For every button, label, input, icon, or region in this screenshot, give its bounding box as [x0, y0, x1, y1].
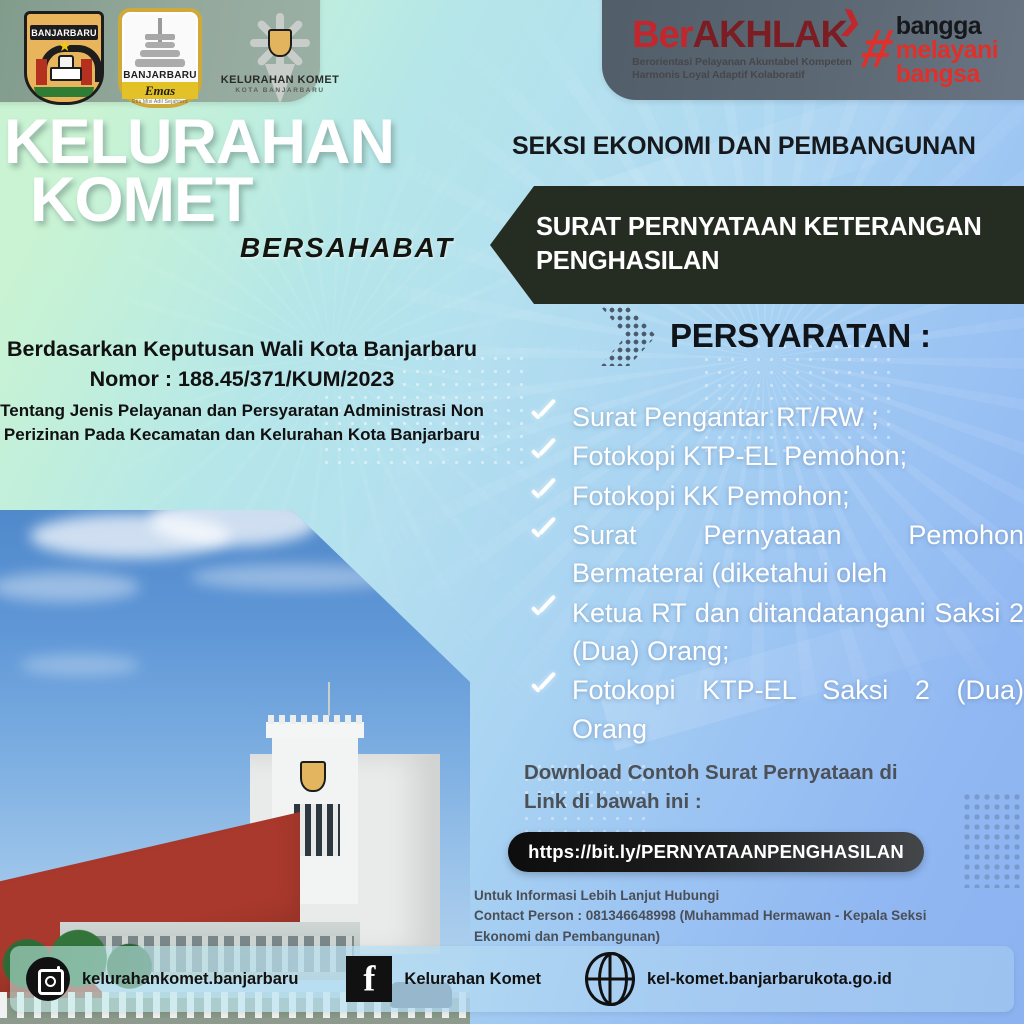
facebook-icon[interactable] — [346, 956, 392, 1002]
download-line-1: Download Contoh Surat Pernyataan di — [524, 758, 994, 787]
instagram-icon[interactable] — [26, 957, 70, 1001]
regulation-line-3: Tentang Jenis Pelayanan dan Persyaratan … — [0, 399, 484, 447]
bangga-line: bangga — [896, 14, 998, 38]
check-icon — [528, 598, 558, 632]
section-eyebrow: SEKSI EKONOMI DAN PEMBANGUNAN — [512, 132, 976, 161]
footer-bar: kelurahankomet.banjarbaru Kelurahan Kome… — [10, 946, 1014, 1012]
check-icon — [528, 481, 558, 515]
komet-logo-line2: KOTA BANJARBARU — [216, 87, 344, 94]
regulation-line-2: Nomor : 188.45/371/KUM/2023 — [0, 364, 484, 395]
download-line-2: Link di bawah ini : — [524, 787, 994, 816]
komet-logo-line1: KELURAHAN KOMET — [216, 74, 344, 86]
emas-line1: BANJARBARU — [122, 70, 198, 81]
hashtag-icon: # — [857, 28, 896, 71]
download-url-button[interactable]: https://bit.ly/PERNYATAANPENGHASILAN — [508, 832, 924, 872]
list-item-label: Surat Pengantar RT/RW ; — [572, 398, 1024, 436]
list-item-label: Fotokopi KTP-EL Saksi 2 (Dua) Orang — [572, 671, 1024, 748]
list-item-label: Fotokopi KTP-EL Pemohon; — [572, 437, 1024, 475]
emas-line3: Etis Misi Adil Sejahtera — [118, 99, 202, 105]
download-url-label: https://bit.ly/PERNYATAANPENGHASILAN — [528, 841, 904, 863]
chevron-dots-icon — [600, 306, 656, 366]
section-banner-title: SURAT PERNYATAAN KETERANGAN PENGHASILAN — [536, 211, 1024, 278]
list-item-label: Surat Pernyataan Pemohon Bermaterai (dik… — [572, 516, 1024, 593]
footer-website[interactable]: kel-komet.banjarbarukota.go.id — [585, 952, 892, 1006]
download-block: Download Contoh Surat Pernyataan di Link… — [524, 758, 994, 816]
check-icon — [528, 520, 558, 554]
berakhlak-lockup: BerAKHLAK ❯ Berorientasi Pelayanan Akunt… — [632, 12, 998, 86]
kelurahan-komet-logo-icon: KELURAHAN KOMET KOTA BANJARBARU — [216, 8, 344, 108]
contact-block: Untuk Informasi Lebih Lanjut Hubungi Con… — [474, 886, 974, 947]
list-item: Fotokopi KK Pemohon; — [528, 477, 1024, 515]
bangsa-line: bangsa — [896, 62, 998, 86]
globe-icon[interactable] — [585, 952, 635, 1006]
berakhlak-prefix: Ber — [632, 14, 692, 56]
check-icon — [528, 675, 558, 709]
section-banner: SURAT PERNYATAAN KETERANGAN PENGHASILAN — [490, 186, 1024, 304]
footer-instagram[interactable]: kelurahankomet.banjarbaru — [26, 957, 298, 1001]
regulation-line-1: Berdasarkan Keputusan Wali Kota Banjarba… — [0, 336, 484, 364]
berakhlak-sub-line2: Harmonis Loyal Adaptif Kolaboratif — [632, 69, 852, 82]
title-line-2: KOMET — [30, 172, 504, 230]
crest-ribbon-label: BANJARBARU — [31, 28, 97, 38]
check-icon — [528, 441, 558, 475]
title-line-1: KELURAHAN — [4, 114, 504, 172]
facebook-handle: Kelurahan Komet — [404, 970, 541, 989]
instagram-handle: kelurahankomet.banjarbaru — [82, 970, 298, 989]
list-item: Surat Pengantar RT/RW ; — [528, 398, 1024, 436]
contact-line-3: Ekonomi dan Pembangunan) — [474, 927, 974, 947]
contact-line-2: Contact Person : 081346648998 (Muhammad … — [474, 906, 974, 926]
regulation-block: Berdasarkan Keputusan Wali Kota Banjarba… — [0, 336, 484, 447]
contact-line-1: Untuk Informasi Lebih Lanjut Hubungi — [474, 886, 974, 906]
emas-line2: Emas — [145, 83, 175, 99]
poster-canvas: BANJARBARU ★ BANJARBARU Emas Etis Misi A… — [0, 0, 1024, 1024]
page-title: KELURAHAN KOMET BERSAHABAT — [4, 114, 504, 264]
list-item: Fotokopi KTP-EL Pemohon; — [528, 437, 1024, 475]
berakhlak-sub-line1: Berorientasi Pelayanan Akuntabel Kompete… — [632, 56, 852, 69]
list-item-label: Fotokopi KK Pemohon; — [572, 477, 1024, 515]
logo-row: BANJARBARU ★ BANJARBARU Emas Etis Misi A… — [24, 8, 344, 108]
list-item: Ketua RT dan ditandatangani Saksi 2 (Dua… — [528, 594, 1024, 671]
melayani-line: melayani — [896, 38, 998, 62]
banjarbaru-crest-icon: BANJARBARU ★ — [24, 11, 104, 105]
requirements-list: Surat Pengantar RT/RW ; Fotokopi KTP-EL … — [528, 398, 1024, 749]
berakhlak-arrow-icon: ❯ — [838, 7, 862, 36]
requirements-heading: PERSYARATAN : — [670, 317, 931, 355]
title-tagline: BERSAHABAT — [240, 232, 504, 264]
website-url: kel-komet.banjarbarukota.go.id — [647, 970, 892, 989]
requirements-heading-row: PERSYARATAN : — [600, 306, 931, 366]
list-item: Surat Pernyataan Pemohon Bermaterai (dik… — [528, 516, 1024, 593]
list-item: Fotokopi KTP-EL Saksi 2 (Dua) Orang — [528, 671, 1024, 748]
check-icon — [528, 402, 558, 436]
berakhlak-main: AKHLAK — [693, 14, 847, 56]
banjarbaru-emas-logo-icon: BANJARBARU Emas Etis Misi Adil Sejahtera — [118, 8, 202, 108]
list-item-label: Ketua RT dan ditandatangani Saksi 2 (Dua… — [572, 594, 1024, 671]
footer-facebook[interactable]: Kelurahan Komet — [346, 956, 541, 1002]
